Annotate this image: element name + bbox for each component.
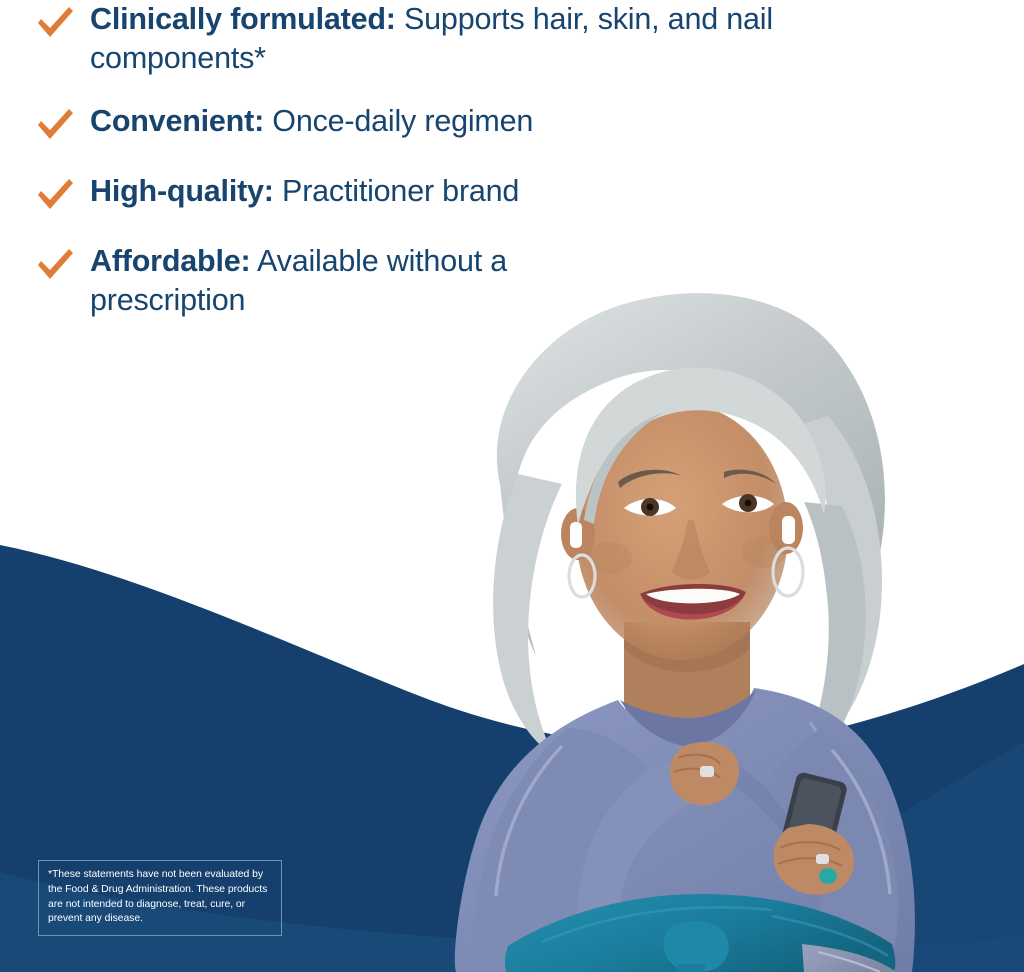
check-icon [34,246,76,286]
benefit-lead: Clinically formulated: [90,2,396,36]
benefit-rest: Practitioner brand [274,174,519,208]
ring-icon [816,854,829,864]
benefit-rest: Once-daily regimen [264,104,533,138]
check-icon [34,4,76,44]
benefit-text: Clinically formulated: Supports hair, sk… [90,0,920,78]
hero-photo-svg [372,276,992,972]
turquoise-ring-icon [819,868,837,884]
promo-banner: Clinically formulated: Supports hair, sk… [0,0,1024,972]
benefit-lead: Affordable: [90,244,250,278]
disclaimer-text: *These statements have not been evaluate… [48,869,267,924]
benefit-item: High-quality: Practitioner brand [34,172,934,216]
benefit-lead: Convenient: [90,104,264,138]
benefit-item: Clinically formulated: Supports hair, sk… [34,0,934,78]
disclaimer-box: *These statements have not been evaluate… [38,860,282,936]
benefit-text: Convenient: Once-daily regimen [90,102,533,141]
check-icon [34,176,76,216]
benefit-text: High-quality: Practitioner brand [90,172,519,211]
hero-photo-woman [372,276,992,972]
benefit-item: Convenient: Once-daily regimen [34,102,934,146]
ring-icon [700,766,714,777]
benefit-lead: High-quality: [90,174,274,208]
check-icon [34,106,76,146]
